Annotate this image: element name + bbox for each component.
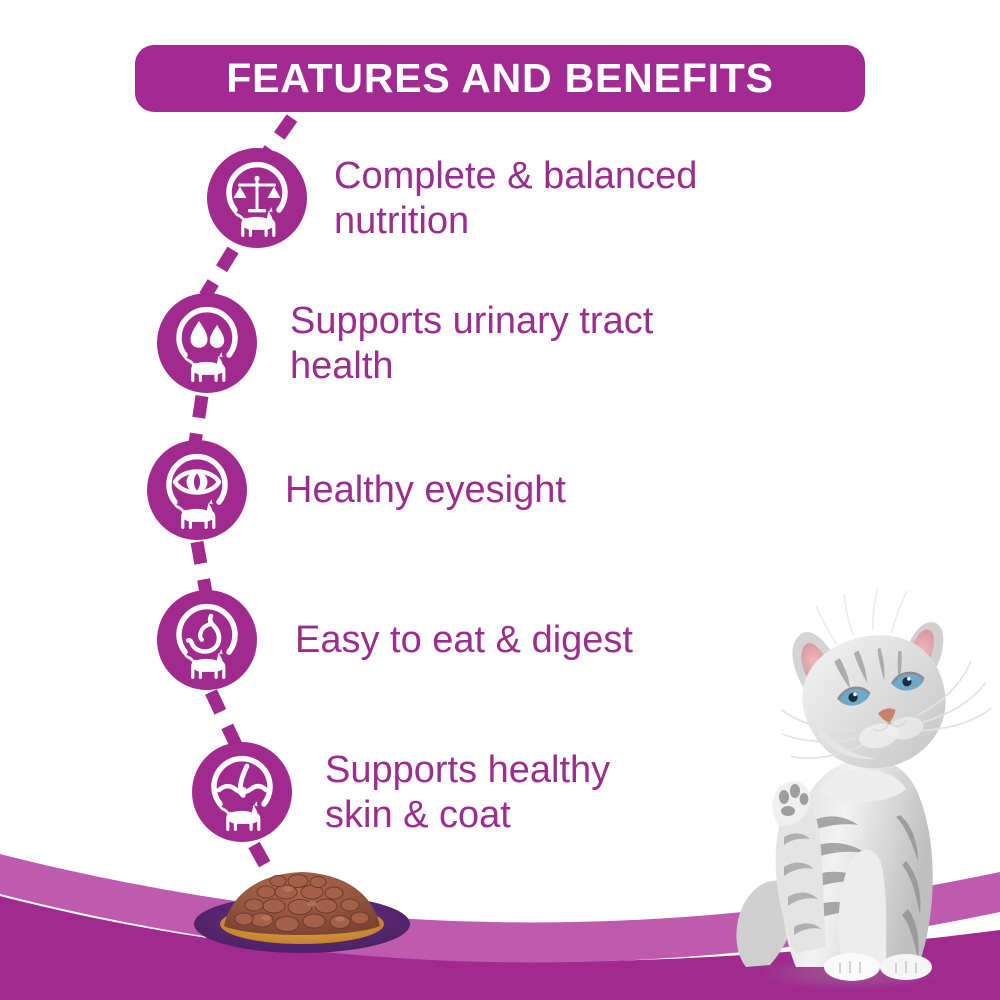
connector-item3-to-item4 xyxy=(197,542,206,593)
stomach-cat-icon xyxy=(157,590,257,690)
feature-label: Complete & balanced nutrition xyxy=(334,154,697,244)
feature-item-healthy-eyesight[interactable]: Healthy eyesight xyxy=(147,440,566,540)
feature-label: Supports healthy skin & coat xyxy=(325,748,610,838)
features-and-benefits-infographic: FEATURES AND BENEFITS xyxy=(0,0,1000,1000)
feature-label: Supports urinary tract health xyxy=(290,299,653,389)
feature-item-supports-healthy-skin-and-coat[interactable]: Supports healthy skin & coat xyxy=(192,742,610,842)
feature-label: Healthy eyesight xyxy=(285,468,566,513)
connector-badge-to-item1 xyxy=(268,118,292,152)
feature-label: Easy to eat & digest xyxy=(295,618,633,663)
feature-item-easy-to-eat-and-digest[interactable]: Easy to eat & digest xyxy=(157,590,633,690)
page-title: FEATURES AND BENEFITS xyxy=(226,55,774,102)
connector-item1-to-item2 xyxy=(205,250,233,296)
feature-item-supports-urinary-tract-health[interactable]: Supports urinary tract health xyxy=(157,293,653,393)
silver-tabby-kitten-photo xyxy=(700,575,1000,1000)
feature-item-complete-balanced-nutrition[interactable]: Complete & balanced nutrition xyxy=(207,148,697,248)
cat-food-bowl-photo xyxy=(192,862,412,954)
balance-scale-cat-icon xyxy=(207,148,307,248)
connector-item4-to-item5 xyxy=(211,692,236,745)
hair-follicle-cat-icon xyxy=(192,742,292,842)
header-badge: FEATURES AND BENEFITS xyxy=(135,45,865,112)
water-droplets-cat-icon xyxy=(157,293,257,393)
cat-eye-icon xyxy=(147,440,247,540)
connector-item2-to-item3 xyxy=(195,396,202,443)
